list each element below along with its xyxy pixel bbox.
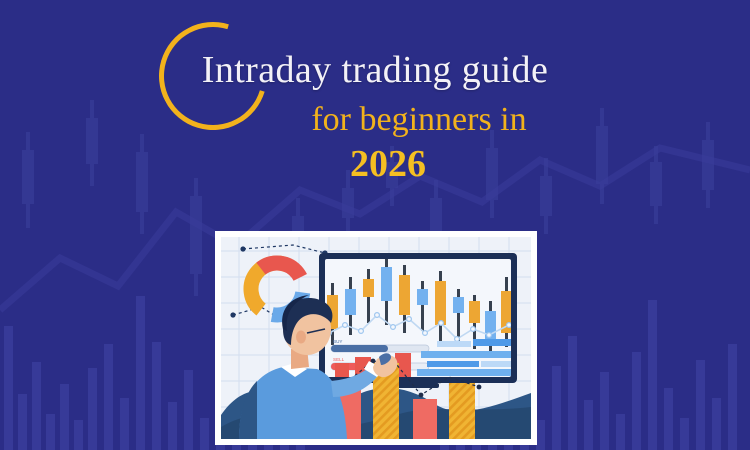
- page-title-year: 2026: [0, 142, 750, 186]
- buy-label: BUY: [333, 339, 342, 344]
- trader-illustration: BUY SELL: [215, 231, 537, 445]
- title-block: Intraday trading guide for beginners in …: [0, 0, 750, 200]
- buy-progress: [331, 345, 388, 352]
- page-title-line1: Intraday trading guide: [0, 48, 750, 92]
- page-title-line2: for beginners in: [0, 100, 750, 140]
- poster-canvas: Intraday trading guide for beginners in …: [0, 0, 750, 450]
- sell-label: SELL: [333, 357, 345, 362]
